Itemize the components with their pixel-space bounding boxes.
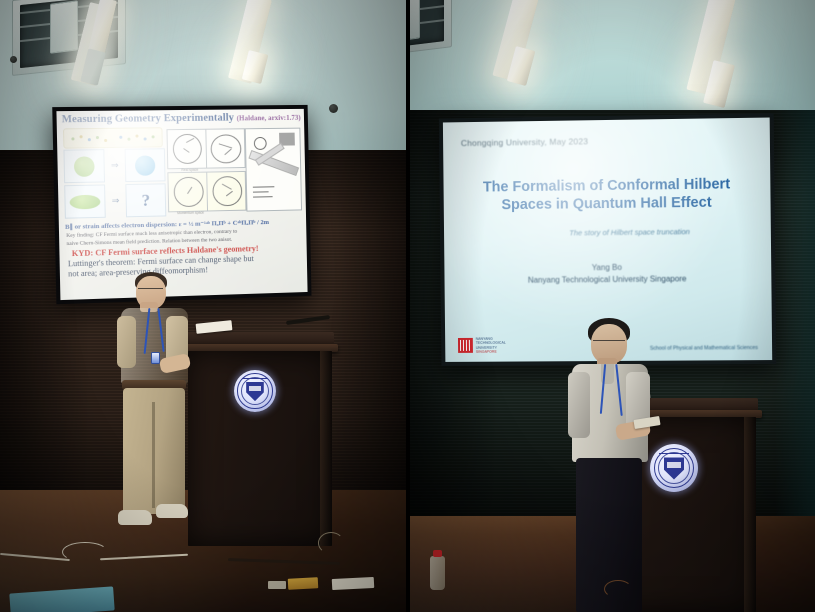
panel-momentum-space-b [206,171,246,212]
arrow-icon: ⇒ [106,149,123,183]
glasses-icon [138,288,163,292]
slide-left-top-figure [63,127,163,148]
trouser-crease [152,402,155,508]
water-bottle [430,556,445,590]
shoe-right [156,504,188,518]
cell-green-circle [63,149,105,183]
bottle-cap [433,550,442,557]
slide-right-author-block: Yang Bo Nanyang Technological University… [444,260,771,287]
cable-loop [604,580,632,598]
speaker-left [108,272,208,540]
gold-box [288,577,319,590]
slide-right-title: The Formalism of Conformal Hilbert Space… [443,176,770,215]
panel-momentum-space-a [167,172,208,213]
left-lecture-photo: Measuring Geometry Experimentally (Halda… [0,0,408,612]
panel-real-space-b [205,128,245,168]
slide-left-equation: B∥ or strain affects electron dispersion… [65,217,300,231]
arm-left [568,372,590,438]
university-seal-icon [234,370,276,412]
panel-label-real-space: Real space [181,168,198,172]
slide-right-subtitle: The story of Hilbert space truncation [444,226,771,239]
arrow-icon: ⇒ [107,184,124,218]
arm-left [117,316,136,368]
cell-question: ? [125,183,166,217]
cable-clip [268,581,286,589]
slide-left-title: Measuring Geometry Experimentally (Halda… [62,112,301,125]
ntu-mark-icon [458,338,473,353]
shoe-left [118,510,152,525]
podium-left [186,332,334,546]
ntu-logo: NANYANG TECHNOLOGICAL UNIVERSITY SINGAPO… [458,337,510,354]
panel-apparatus-schematic [245,128,302,212]
slide-left-body: Key finding: CF Fermi surface much less … [66,227,301,249]
slide-left-key-takeaway: KYD: CF Fermi surface reflects Haldane's… [72,243,301,258]
cell-blue-circle [125,148,166,182]
ntu-logo-line-1: NANYANG [476,337,506,341]
cable-loop [318,532,344,554]
speaker-right [568,318,664,612]
slide-left-comparison-grid: ⇒ ⇒ ? [63,148,162,218]
ac-vent-side-icon [50,0,78,53]
paper-sheet [332,577,375,590]
ceiling-speaker-icon [329,104,338,113]
panel-label-momentum-space: Momentum space [177,211,204,216]
right-lecture-photo: Chongqing University, May 2023 The Forma… [408,0,815,612]
cell-green-ellipse [64,184,106,218]
ntu-logo-line-2: TECHNOLOGICAL [476,341,506,345]
slide-right-venue: Chongqing University, May 2023 [461,136,588,148]
slide-right-department: School of Physical and Mathematical Scie… [650,345,758,352]
photo-pair-canvas: Measuring Geometry Experimentally (Halda… [0,0,815,612]
ntu-logo-line-3: UNIVERSITY [476,345,506,349]
badge [151,352,160,364]
photo-seam [406,0,410,612]
ntu-logo-line-4: SINGAPORE [476,349,506,353]
glasses-icon [593,340,625,344]
smoke-detector-icon [10,56,17,63]
panel-real-space-a [166,129,207,170]
